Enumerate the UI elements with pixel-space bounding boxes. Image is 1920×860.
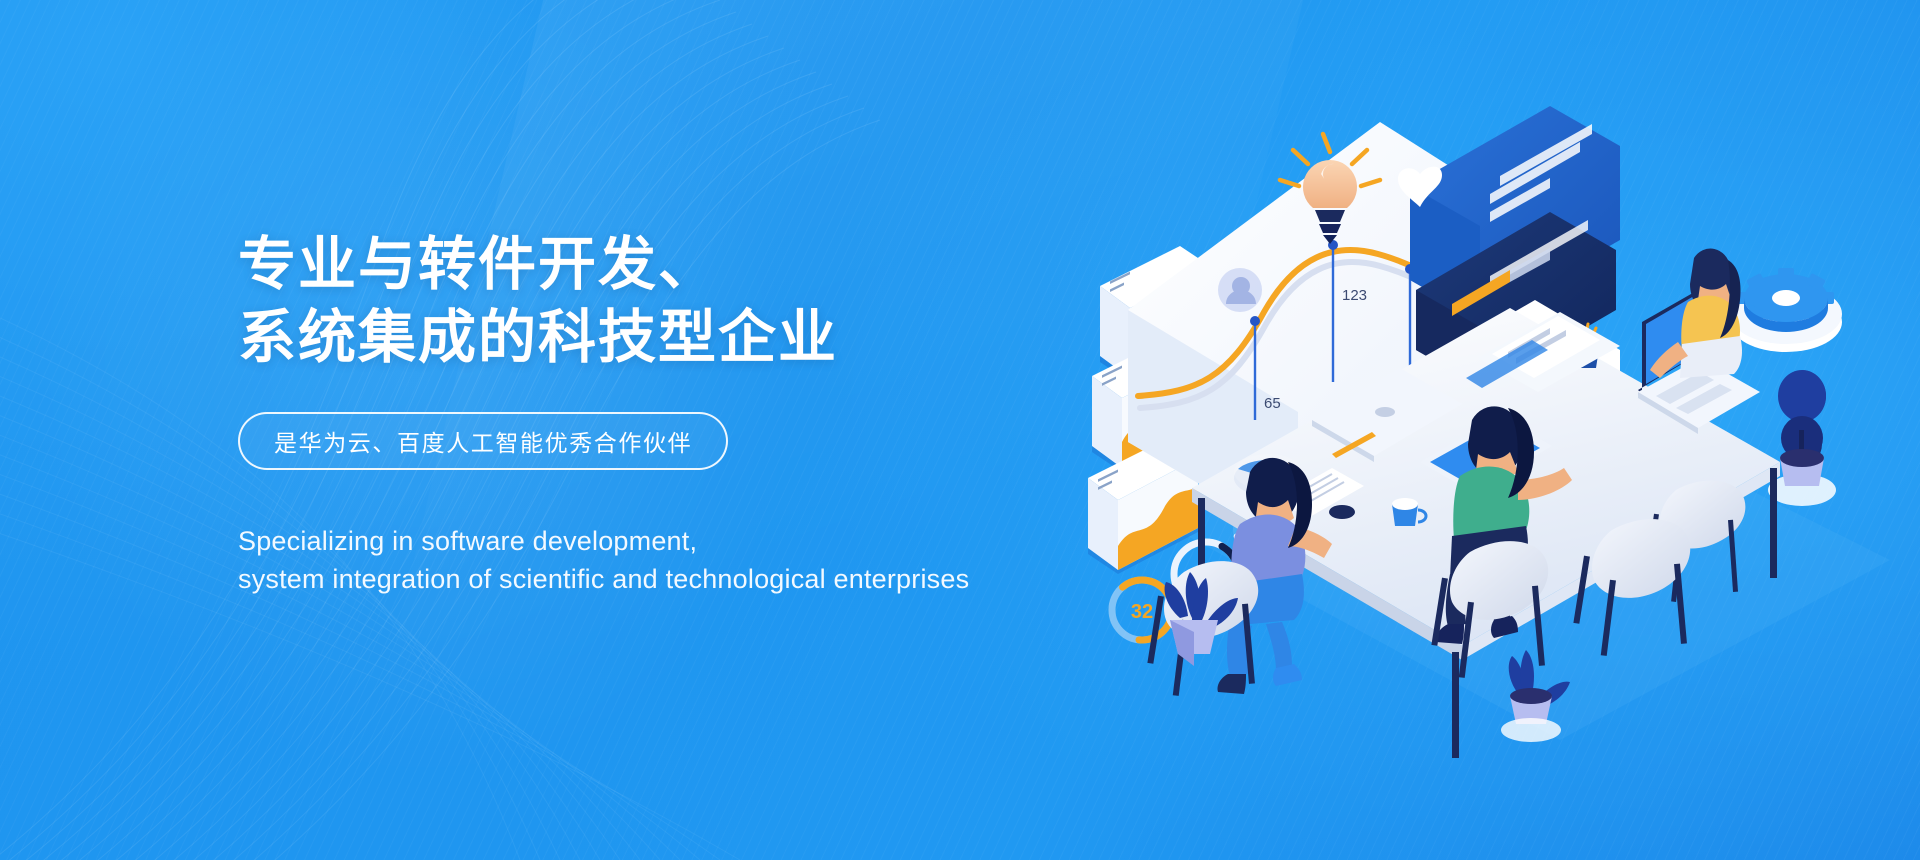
isometric-scene: 65 123 97 81 [1080, 90, 1900, 770]
chart-marker-label: 65 [1264, 395, 1281, 412]
gauge-value: 32 [1131, 601, 1153, 623]
partner-badge: 是华为云、百度人工智能优秀合作伙伴 [238, 412, 728, 470]
mouse-icon [1329, 505, 1355, 519]
page-title: 专业与转件开发、 系统集成的科技型企业 [238, 228, 1158, 374]
chart-marker-label: 123 [1342, 287, 1367, 304]
subtitle-line-2: system integration of scientific and tec… [238, 560, 1158, 598]
subtitle-line-1: Specializing in software development, [238, 522, 1158, 560]
hero-banner: 专业与转件开发、 系统集成的科技型企业 是华为云、百度人工智能优秀合作伙伴 Sp… [0, 0, 1920, 860]
hero-subtitle: Specializing in software development, sy… [238, 522, 1158, 599]
plant-icon [1768, 370, 1836, 506]
hero-illustration: 65 123 97 81 [1080, 90, 1900, 770]
hero-copy: 专业与转件开发、 系统集成的科技型企业 是华为云、百度人工智能优秀合作伙伴 Sp… [238, 228, 1158, 599]
gear-icon [1730, 268, 1842, 352]
headline-line-2: 系统集成的科技型企业 [238, 301, 1158, 374]
headline-line-1: 专业与转件开发、 [238, 228, 1158, 301]
